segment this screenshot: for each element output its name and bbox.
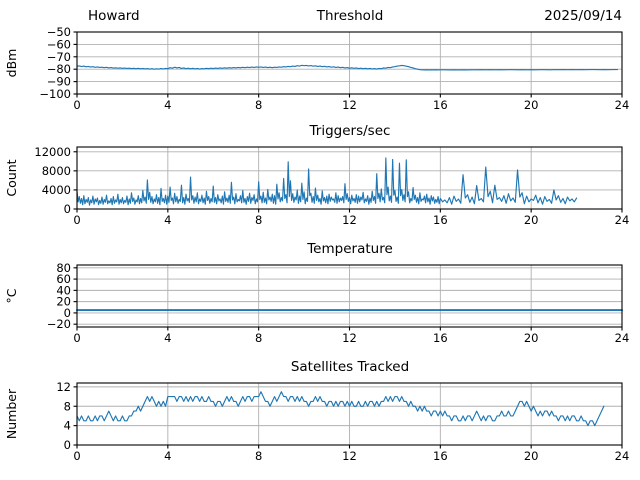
xtick-label: 4	[164, 331, 171, 345]
xtick-label: 8	[255, 98, 262, 112]
xtick-label: 4	[164, 213, 171, 227]
xtick-label: 0	[73, 98, 80, 112]
ytick-label: 8	[64, 399, 71, 413]
chart-title-temperature: Temperature	[306, 241, 393, 257]
series-line-satellites	[77, 392, 604, 426]
xtick-label: 24	[615, 449, 630, 463]
ytick-label: 12000	[34, 145, 71, 159]
yaxis-title-temperature: °C	[4, 288, 19, 303]
ytick-label: 0	[64, 202, 71, 216]
xtick-label: 16	[433, 213, 448, 227]
yaxis-title-triggers: Count	[4, 159, 19, 196]
yaxis-title-satellites: Number	[4, 388, 19, 439]
xtick-label: 8	[255, 213, 262, 227]
xtick-label: 16	[433, 449, 448, 463]
ytick-label: 12	[56, 380, 71, 394]
xtick-label: 20	[524, 449, 539, 463]
xtick-label: 12	[342, 331, 357, 345]
xtick-label: 12	[342, 98, 357, 112]
panel-triggers: Triggers/sec0400080001200004812162024Cou…	[0, 117, 640, 235]
ytick-label: −70	[47, 50, 71, 64]
chart-title-satellites: Satellites Tracked	[291, 359, 409, 375]
chart-triggers: Triggers/sec0400080001200004812162024Cou…	[0, 117, 640, 235]
xtick-label: 4	[164, 98, 171, 112]
panel-satellites: Satellites Tracked0481204812162024Number	[0, 353, 640, 480]
xtick-label: 24	[615, 98, 630, 112]
xtick-label: 8	[255, 449, 262, 463]
xtick-label: 8	[255, 331, 262, 345]
ytick-label: −50	[47, 25, 71, 39]
ytick-label: −90	[47, 75, 71, 89]
ytick-label: 80	[56, 261, 71, 275]
chart-title-threshold: Threshold	[316, 8, 384, 24]
ytick-label: −80	[47, 62, 71, 76]
xtick-label: 20	[524, 331, 539, 345]
xtick-label: 0	[73, 449, 80, 463]
panel-temperature: Temperature−2002040608004812162024°C	[0, 235, 640, 353]
chart-title-triggers: Triggers/sec	[309, 123, 391, 139]
ytick-label: −100	[39, 87, 71, 101]
panel-threshold: Threshold−100−90−80−70−60−5004812162024d…	[0, 0, 640, 120]
xtick-label: 0	[73, 213, 80, 227]
ytick-label: −60	[47, 37, 71, 51]
yaxis-title-threshold: dBm	[4, 49, 19, 78]
ytick-label: 4000	[42, 183, 71, 197]
xtick-label: 20	[524, 213, 539, 227]
xtick-label: 16	[433, 331, 448, 345]
ytick-label: 0	[64, 438, 71, 452]
xtick-label: 16	[433, 98, 448, 112]
xtick-label: 24	[615, 213, 630, 227]
xtick-label: 12	[342, 449, 357, 463]
xtick-label: 12	[342, 213, 357, 227]
xtick-label: 24	[615, 331, 630, 345]
chart-threshold: Threshold−100−90−80−70−60−5004812162024d…	[0, 0, 640, 120]
series-line-triggers	[77, 158, 577, 205]
xtick-label: 0	[73, 331, 80, 345]
ytick-label: 4	[64, 419, 71, 433]
chart-temperature: Temperature−2002040608004812162024°C	[0, 235, 640, 353]
xtick-label: 20	[524, 98, 539, 112]
ytick-label: 8000	[42, 164, 71, 178]
chart-satellites: Satellites Tracked0481204812162024Number	[0, 353, 640, 480]
monitoring-figure: Howard 2025/09/14 Threshold−100−90−80−70…	[0, 0, 640, 480]
xtick-label: 4	[164, 449, 171, 463]
